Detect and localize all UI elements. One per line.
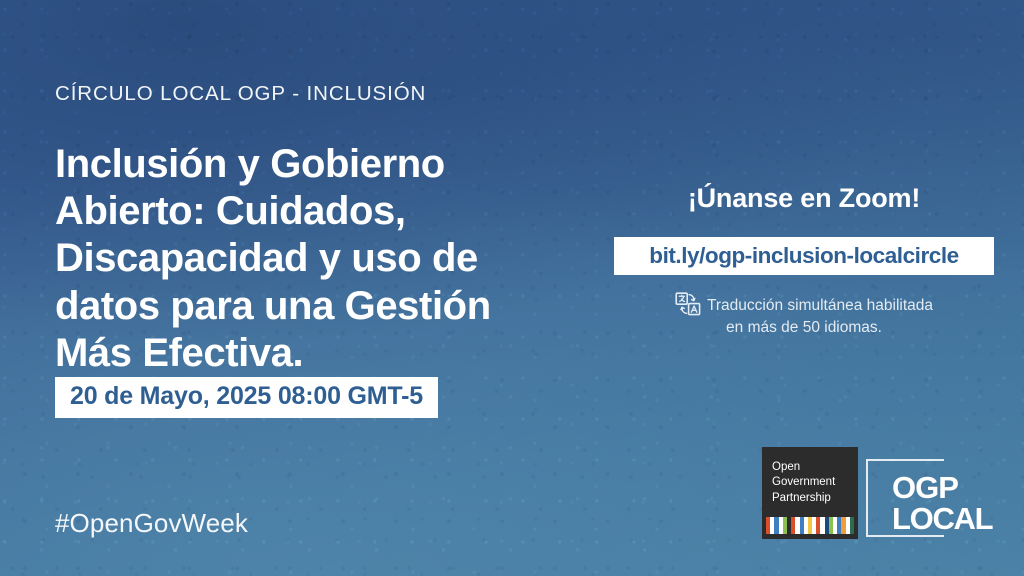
translation-note: Traducción simultánea habilitada en más …	[614, 292, 994, 339]
ogp-logo-line1: Open	[772, 461, 800, 473]
ogp-local-logo: OGP LOCAL	[866, 451, 1014, 541]
registration-link-badge[interactable]: bit.ly/ogp-inclusion-localcircle	[614, 237, 994, 275]
ogp-local-line1: OGP	[892, 470, 958, 505]
translation-note-line2: en más de 50 idiomas.	[726, 319, 882, 336]
translate-icon	[675, 292, 701, 316]
event-poster: CÍRCULO LOCAL OGP - INCLUSIÓN Inclusión …	[0, 0, 1024, 576]
ogp-logo-mark: Open Government Partnership	[762, 447, 858, 539]
hashtag-label: #OpenGovWeek	[55, 508, 248, 539]
ogp-logo-line2: Government	[772, 476, 835, 488]
ogp-stripe-20	[850, 517, 854, 534]
logo-lockup: Open Government Partnership OGP LOCAL	[762, 447, 1014, 547]
ogp-local-wordmark: OGP LOCAL	[892, 472, 992, 534]
zoom-invite-heading: ¡Únanse en Zoom!	[614, 183, 994, 214]
page-title: Inclusión y Gobierno Abierto: Cuidados, …	[55, 141, 560, 377]
ogp-logo-wordmark: Open Government Partnership	[762, 447, 858, 506]
registration-url-text: bit.ly/ogp-inclusion-localcircle	[649, 243, 958, 269]
date-badge: 20 de Mayo, 2025 08:00 GMT-5	[55, 377, 438, 418]
translation-note-line1: Traducción simultánea habilitada	[707, 297, 933, 314]
eyebrow-label: CÍRCULO LOCAL OGP - INCLUSIÓN	[55, 82, 426, 106]
ogp-logo-line3: Partnership	[772, 492, 831, 504]
ogp-logo-stripes	[762, 517, 858, 534]
ogp-local-line2: LOCAL	[892, 501, 992, 536]
